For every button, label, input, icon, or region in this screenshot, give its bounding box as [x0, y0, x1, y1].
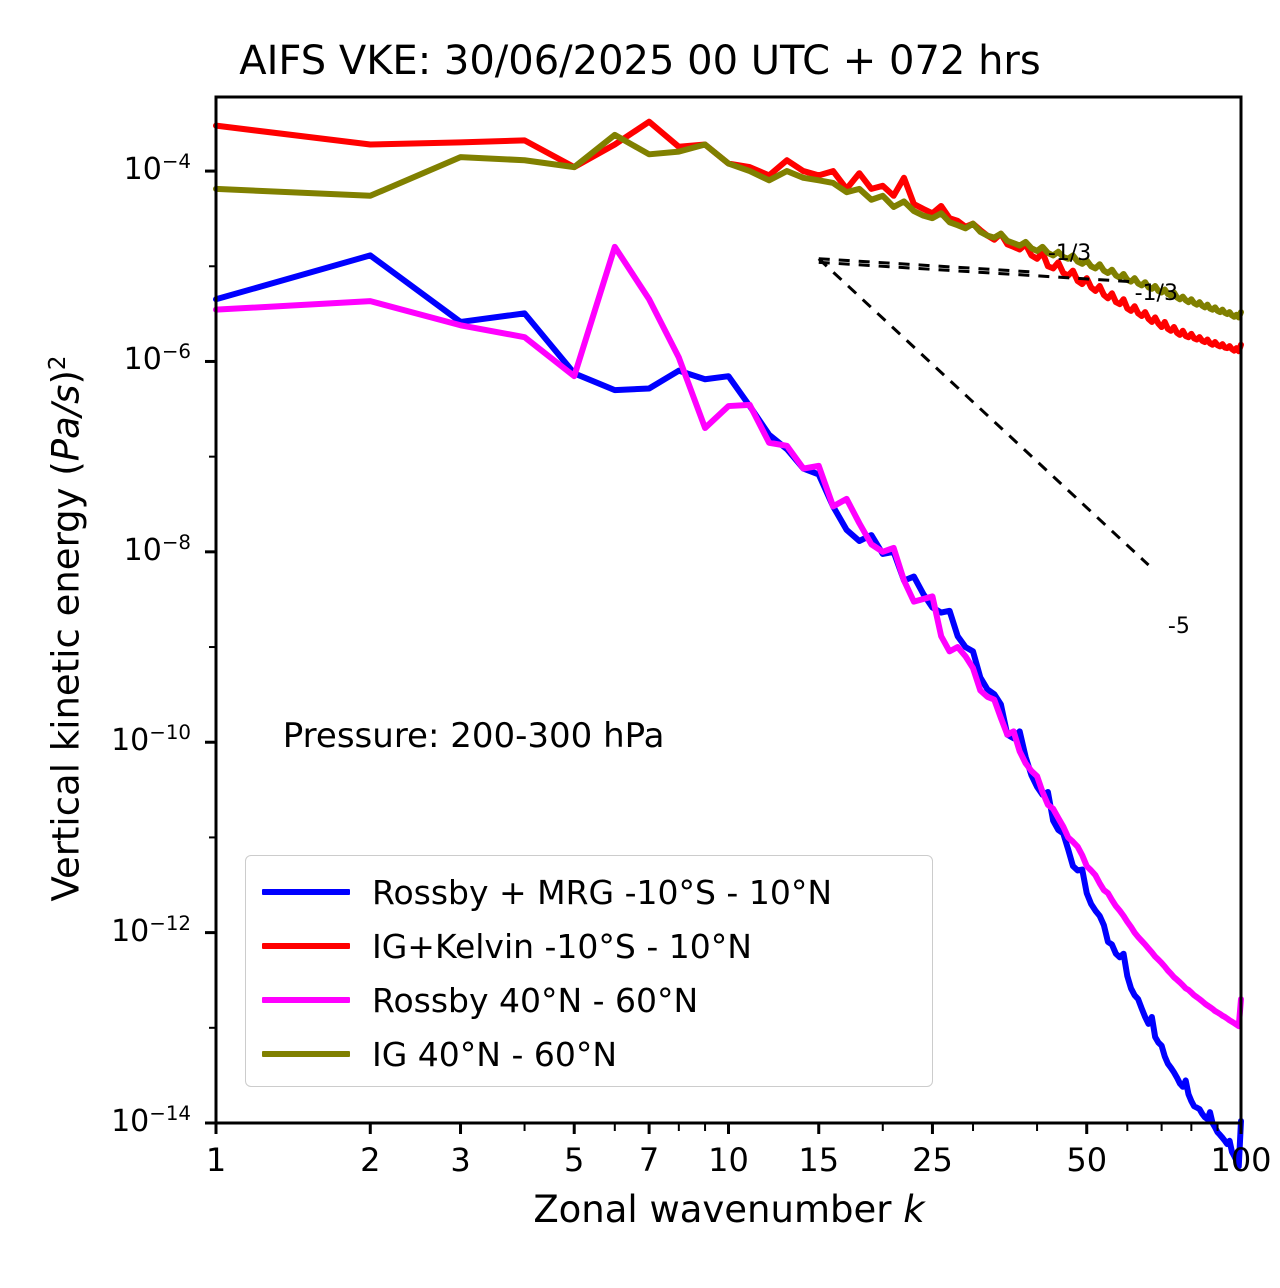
- legend-swatch-icon: [262, 997, 350, 1003]
- series-line-3: [216, 135, 1241, 318]
- slope-label-lower: -1/3: [1135, 281, 1178, 306]
- legend: Rossby + MRG -10°S - 10°NIG+Kelvin -10°S…: [245, 855, 933, 1087]
- slope-label-steep: -5: [1168, 614, 1190, 639]
- y-tick-label: 10−12: [41, 912, 191, 949]
- legend-swatch-icon: [262, 889, 350, 895]
- ref-minus5: [819, 259, 1149, 565]
- x-tick-label: 1: [156, 1141, 276, 1179]
- y-tick-label: 10−4: [41, 150, 191, 187]
- x-tick-label: 50: [1027, 1141, 1147, 1179]
- y-tick-label: 10−10: [41, 721, 191, 758]
- plot-area: [0, 0, 1280, 1288]
- legend-item-0[interactable]: Rossby + MRG -10°S - 10°N: [262, 866, 832, 918]
- legend-swatch-icon: [262, 943, 350, 949]
- series-line-1: [216, 122, 1241, 352]
- legend-item-2[interactable]: Rossby 40°N - 60°N: [262, 974, 698, 1026]
- x-tick-label: 15: [759, 1141, 879, 1179]
- x-tick-label: 3: [401, 1141, 521, 1179]
- y-tick-label: 10−14: [41, 1102, 191, 1139]
- legend-item-3[interactable]: IG 40°N - 60°N: [262, 1028, 617, 1080]
- y-tick-label: 10−6: [41, 340, 191, 377]
- legend-item-1[interactable]: IG+Kelvin -10°S - 10°N: [262, 920, 752, 972]
- x-tick-label: 25: [872, 1141, 992, 1179]
- reference-lines-group: [819, 259, 1149, 565]
- y-tick-label: 10−8: [41, 531, 191, 568]
- legend-swatch-icon: [262, 1051, 350, 1057]
- legend-label: IG 40°N - 60°N: [372, 1038, 617, 1071]
- chart-root: AIFS VKE: 30/06/2025 00 UTC + 072 hrs Ve…: [0, 0, 1280, 1288]
- pressure-annotation: Pressure: 200-300 hPa: [283, 716, 665, 756]
- slope-label-upper: -1/3: [1048, 241, 1091, 266]
- legend-label: Rossby + MRG -10°S - 10°N: [372, 876, 832, 909]
- x-tick-label: 100: [1181, 1141, 1280, 1179]
- legend-label: IG+Kelvin -10°S - 10°N: [372, 930, 752, 963]
- legend-label: Rossby 40°N - 60°N: [372, 984, 698, 1017]
